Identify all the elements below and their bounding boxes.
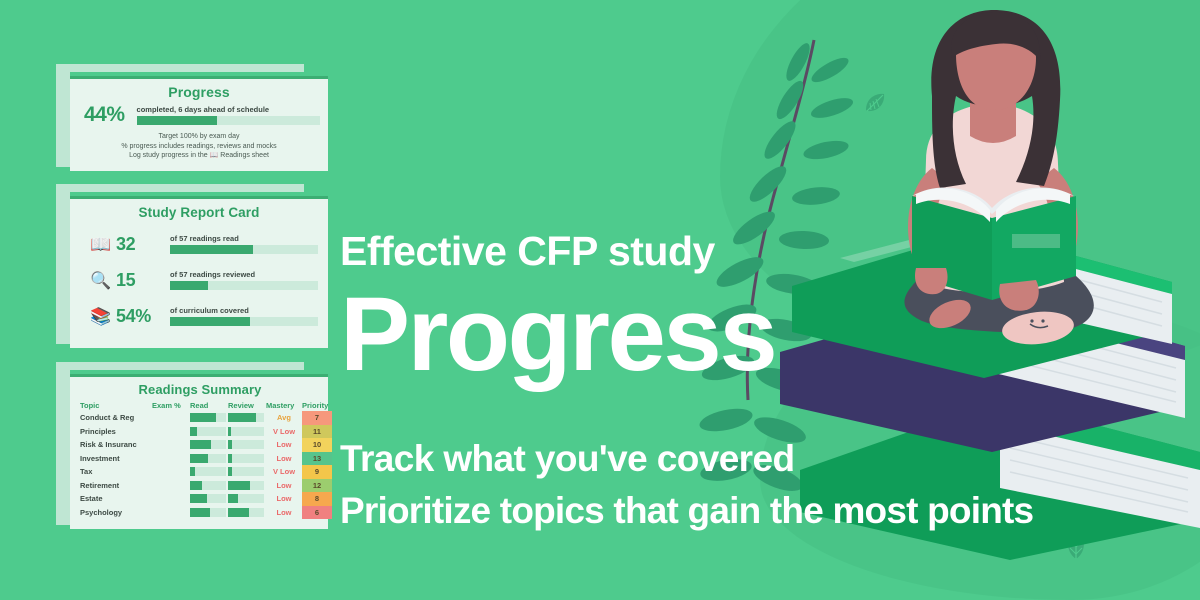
report-bar-1 [170,281,318,290]
open-book-icon: 📖 [86,236,116,253]
cell-review-bar [228,427,264,436]
card-shadow-top [56,184,304,192]
cell-mastery: Avg [266,413,302,422]
book-stack-icon: 📚 [86,308,116,325]
cell-read-bar [190,508,226,517]
cell-topic: Investment [80,454,152,463]
cell-topic: Retirement [80,481,152,490]
column-header-topic: Topic [80,401,152,411]
progress-percent-value: 44% [84,103,125,127]
column-header-mastery: Mastery [266,401,302,411]
readings-summary-table: TopicExam %ReadReviewMasteryPriority Con… [80,401,332,519]
cell-read-bar [190,467,226,476]
report-bar-fill [170,245,253,254]
cell-read-bar [190,413,226,422]
cell-read-bar [190,440,226,449]
cell-priority: 10 [302,438,332,452]
progress-card: Progress 44% completed, 6 days ahead of … [56,64,328,174]
study-report-card-title: Study Report Card [70,205,328,220]
cell-review-bar [228,481,264,490]
report-row: 📖32of 57 readings read [70,226,328,262]
cell-mastery: Low [266,454,302,463]
magnifier-icon: 🔍 [86,272,116,289]
table-row: PrinciplesV Low11 [80,425,332,439]
cell-review-bar [228,467,264,476]
report-bar-2 [170,317,318,326]
table-row: InvestmentLow13 [80,452,332,466]
card-shadow-left [56,72,70,167]
report-value-2: 54% [116,306,170,327]
column-header-exam: Exam % [152,401,190,411]
olive-branch-icon [698,40,856,496]
table-row: TaxV Low9 [80,465,332,479]
card-shadow-top [56,64,304,72]
progress-main-row: 44% completed, 6 days ahead of schedule [70,103,328,127]
progress-note-2: Log study progress in the 📖 Readings she… [70,151,328,161]
cell-read-bar [190,454,226,463]
cell-topic: Psychology [80,508,152,517]
cell-mastery: Low [266,440,302,449]
cell-priority: 9 [302,465,332,479]
report-value-0: 32 [116,234,170,255]
progress-bar-fill [137,116,218,125]
progress-caption: completed, 6 days ahead of schedule [137,105,320,114]
cell-review-bar [228,494,264,503]
report-bar-0 [170,245,318,254]
table-header-row: TopicExam %ReadReviewMasteryPriority [80,401,332,411]
reading-illustration [640,0,1200,600]
column-header-read: Read [190,401,228,411]
cell-mastery: Low [266,481,302,490]
report-label-1: of 57 readings reviewed [170,270,318,279]
card-shadow-left [56,370,70,525]
cell-review-bar [228,508,264,517]
report-value-1: 15 [116,270,170,291]
report-bar-fill [170,281,208,290]
card-shadow-left [56,192,70,344]
cell-read-bar [190,481,226,490]
table-row: Conduct & RegAvg7 [80,411,332,425]
cell-review-bar [228,413,264,422]
cell-mastery: V Low [266,427,302,436]
cell-priority: 8 [302,492,332,506]
progress-note-0: Target 100% by exam day [70,132,328,142]
cell-topic: Principles [80,427,152,436]
readings-summary-title: Readings Summary [80,382,320,397]
cell-priority: 6 [302,506,332,520]
table-row: PsychologyLow6 [80,506,332,520]
cell-topic: Risk & Insuranc [80,440,152,449]
report-row: 📚54%of curriculum covered [70,298,328,334]
report-label-0: of 57 readings read [170,234,318,243]
progress-note-1: % progress includes readings, reviews an… [70,142,328,152]
table-row: RetirementLow12 [80,479,332,493]
cell-read-bar [190,427,226,436]
person-reading [904,10,1093,348]
cell-mastery: Low [266,494,302,503]
progress-notes: Target 100% by exam day % progress inclu… [70,132,328,161]
cell-review-bar [228,440,264,449]
report-rows: 📖32of 57 readings read🔍15of 57 readings … [70,226,328,334]
table-row: EstateLow8 [80,492,332,506]
cell-priority: 13 [302,452,332,466]
column-header-review: Review [228,401,266,411]
progress-bar [137,116,320,125]
cell-read-bar [190,494,226,503]
cell-mastery: Low [266,508,302,517]
readings-summary-card: Readings Summary TopicExam %ReadReviewMa… [56,362,328,532]
column-header-priority: Priority [302,401,332,411]
report-row: 🔍15of 57 readings reviewed [70,262,328,298]
cell-priority: 12 [302,479,332,493]
cell-topic: Conduct & Reg [80,413,152,422]
progress-card-title: Progress [70,84,328,100]
table-row: Risk & InsurancLow10 [80,438,332,452]
report-bar-fill [170,317,250,326]
report-label-2: of curriculum covered [170,306,318,315]
cell-mastery: V Low [266,467,302,476]
cell-topic: Tax [80,467,152,476]
cell-topic: Estate [80,494,152,503]
cell-priority: 7 [302,411,332,425]
study-report-card: Study Report Card 📖32of 57 readings read… [56,184,328,352]
cell-priority: 11 [302,425,332,439]
cell-review-bar [228,454,264,463]
card-shadow-top [56,362,304,370]
